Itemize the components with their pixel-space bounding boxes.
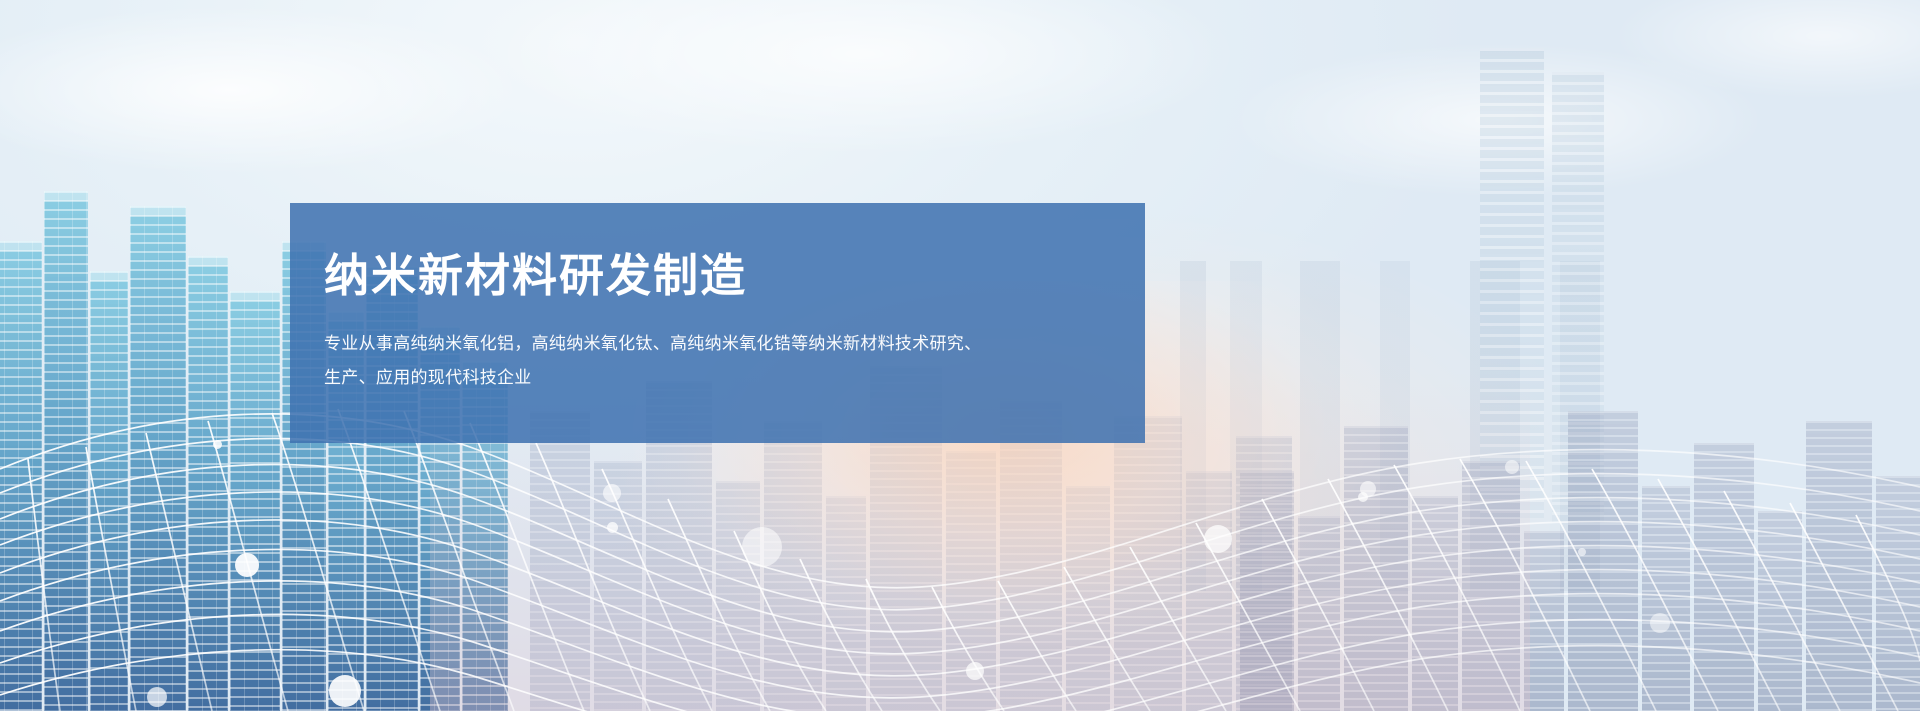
bokeh-dot-2 <box>607 522 618 533</box>
hero-subtitle-line-2: 生产、应用的现代科技企业 <box>324 361 1111 394</box>
bokeh-dot-1 <box>213 440 222 449</box>
hero-subtitle-line-1: 专业从事高纯纳米氧化铝，高纯纳米氧化钛、高纯纳米氧化锆等纳米新材料技术研究、 <box>324 327 1111 360</box>
page-title: 纳米新材料研发制造 <box>324 251 1111 301</box>
hero-banner: 纳米新材料研发制造 专业从事高纯纳米氧化铝，高纯纳米氧化钛、高纯纳米氧化锆等纳米… <box>0 0 1920 711</box>
bokeh-dot-4 <box>1578 548 1586 556</box>
bokeh-dot-3 <box>1358 492 1368 502</box>
hero-subtitle: 专业从事高纯纳米氧化铝，高纯纳米氧化钛、高纯纳米氧化锆等纳米新材料技术研究、 生… <box>324 327 1111 393</box>
hero-text-panel: 纳米新材料研发制造 专业从事高纯纳米氧化铝，高纯纳米氧化钛、高纯纳米氧化锆等纳米… <box>290 203 1145 443</box>
